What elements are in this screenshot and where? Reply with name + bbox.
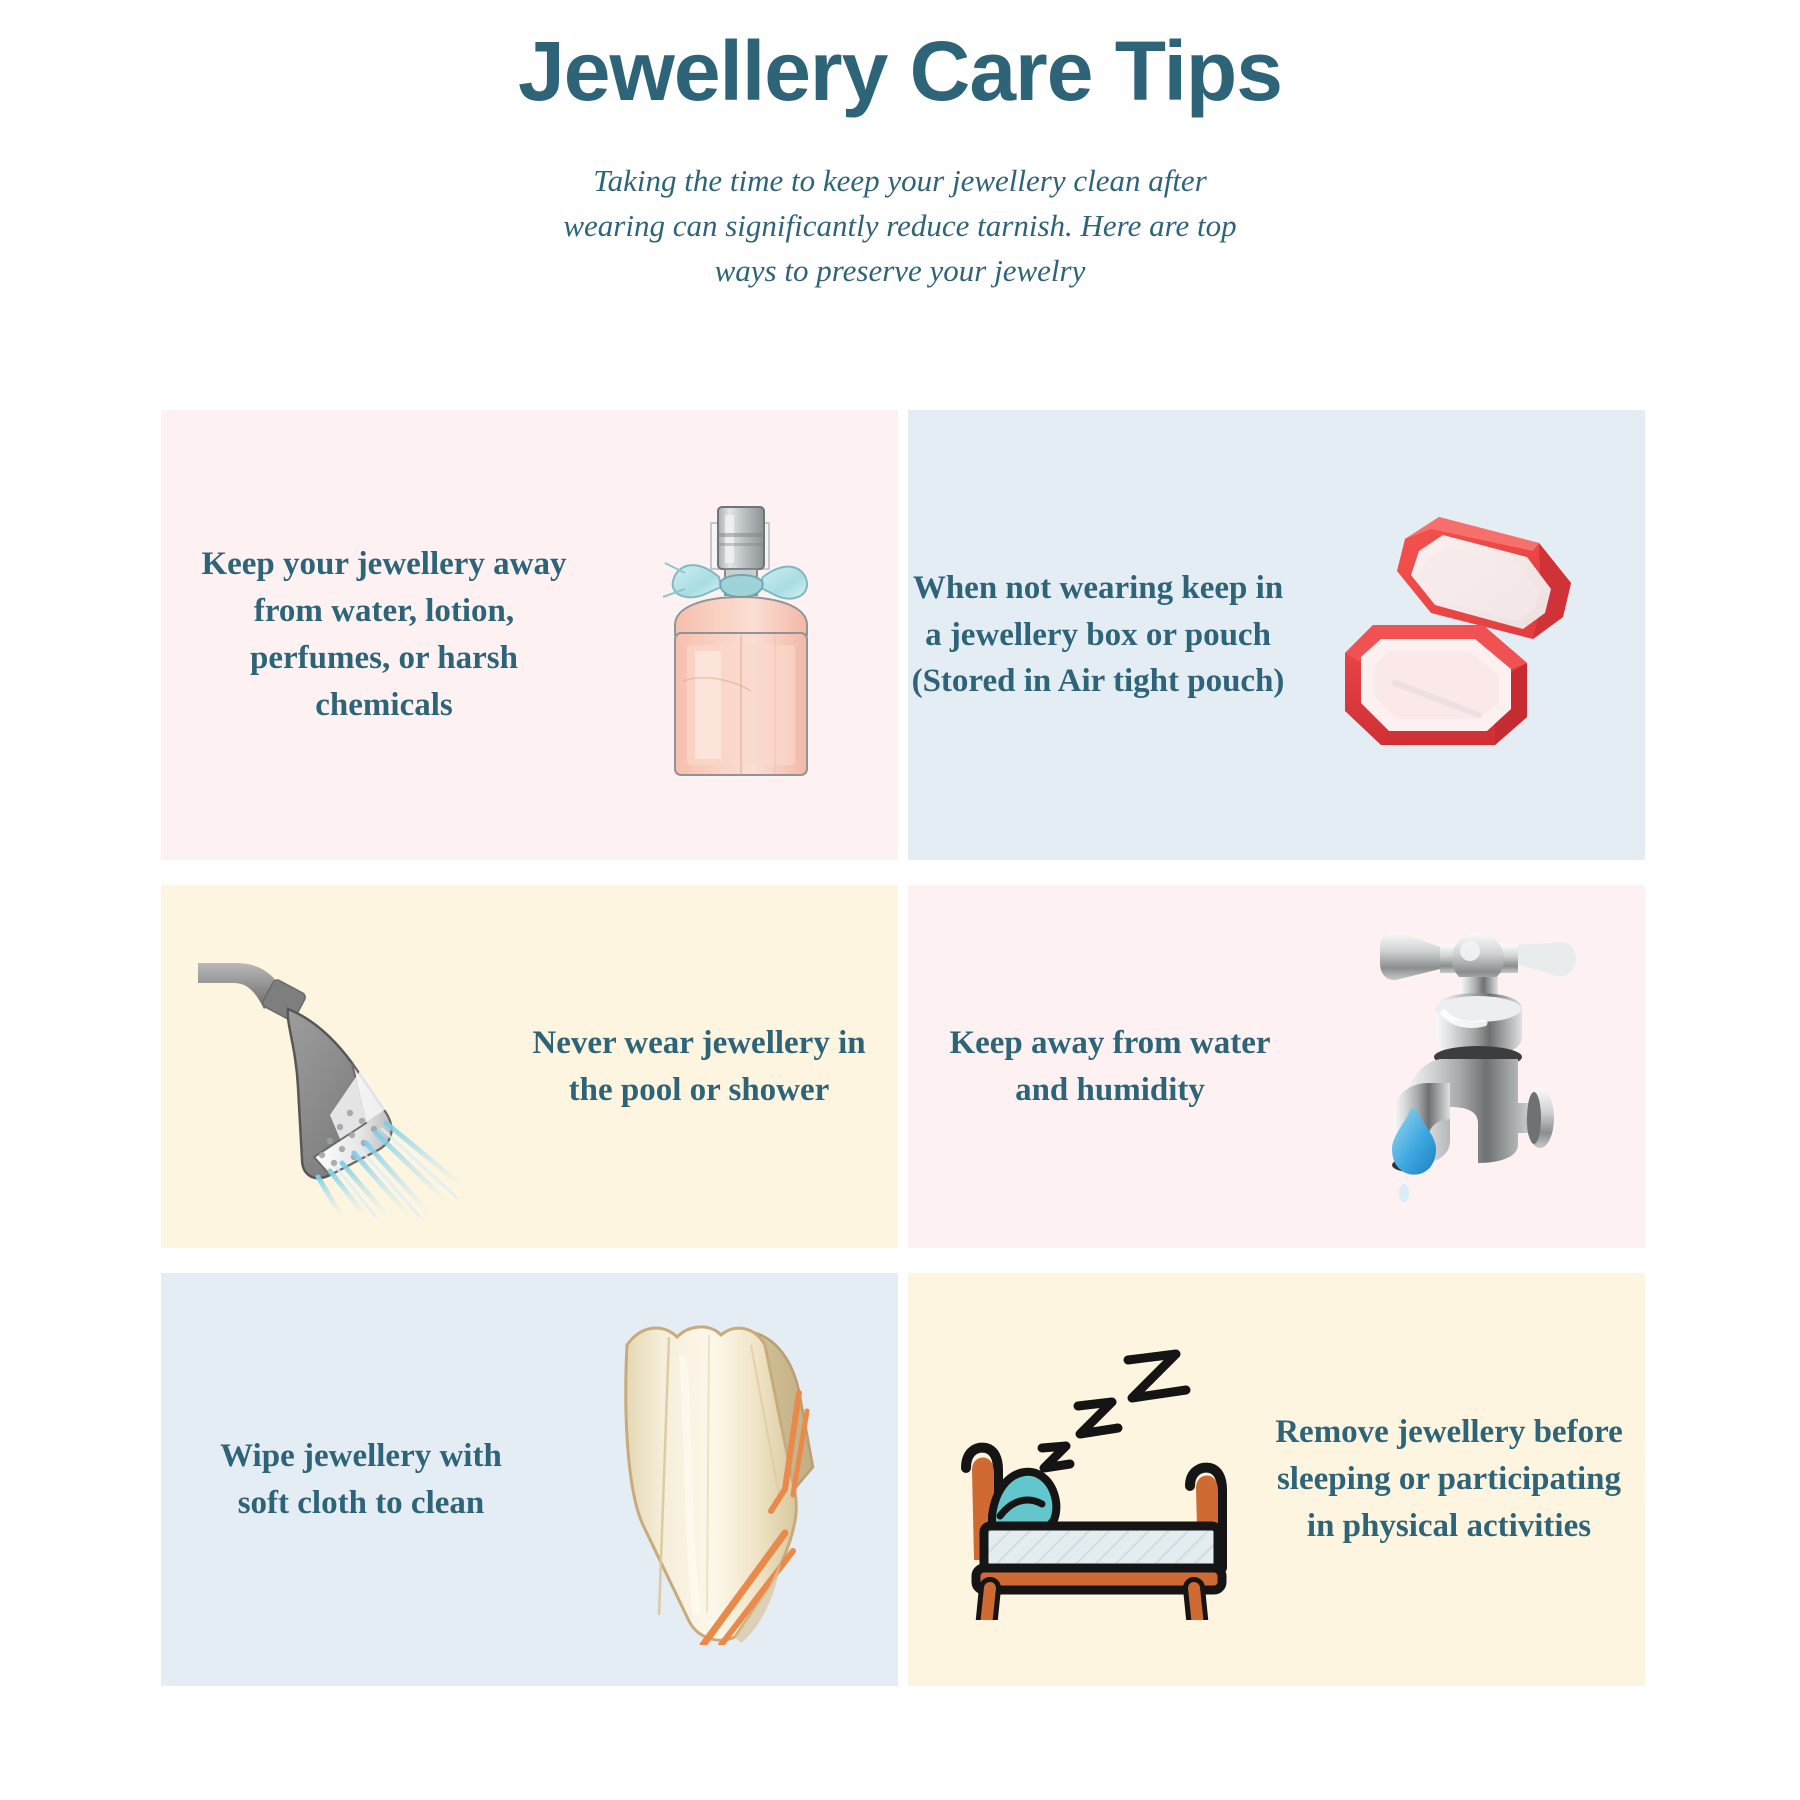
jewellery-box-icon — [1308, 410, 1645, 860]
tip-card-text: Keep away from water and humidity — [908, 1020, 1288, 1114]
page-title: Jewellery Care Tips — [0, 26, 1800, 117]
tip-card-wipe: Wipe jewellery with soft cloth to clean — [161, 1273, 898, 1686]
tip-card-text: Keep your jewellery away from water, lot… — [161, 541, 581, 728]
tip-card-storage: When not wearing keep in a jewellery box… — [908, 410, 1645, 860]
bed-sleeping-illustration — [942, 1340, 1242, 1620]
shower-head-illustration — [190, 917, 500, 1217]
jewellery-box-illustration — [1327, 505, 1627, 765]
perfume-bottle-illustration — [625, 485, 855, 785]
tip-card-humidity: Keep away from water and humidity — [908, 885, 1645, 1248]
faucet-icon — [1288, 885, 1645, 1248]
tip-card-sleep: Remove jewellery before sleeping or part… — [908, 1273, 1645, 1686]
soft-cloth-illustration — [585, 1315, 845, 1645]
tip-card-text: When not wearing keep in a jewellery box… — [908, 565, 1308, 706]
header: Jewellery Care Tips Taking the time to k… — [0, 0, 1800, 294]
bed-sleeping-icon — [908, 1273, 1275, 1686]
tip-card-text: Never wear jewellery in the pool or show… — [528, 1020, 898, 1114]
soft-cloth-icon — [531, 1273, 898, 1686]
tip-card-text: Wipe jewellery with soft cloth to clean — [161, 1433, 531, 1527]
tip-card-shower: Never wear jewellery in the pool or show… — [161, 885, 898, 1248]
faucet-illustration — [1332, 917, 1602, 1217]
page-subtitle: Taking the time to keep your jewellery c… — [550, 159, 1250, 294]
tip-card-text: Remove jewellery before sleeping or part… — [1275, 1409, 1645, 1550]
perfume-bottle-icon — [581, 410, 898, 860]
tip-card-chemicals: Keep your jewellery away from water, lot… — [161, 410, 898, 860]
shower-head-icon — [161, 885, 528, 1248]
infographic-page: Jewellery Care Tips Taking the time to k… — [0, 0, 1800, 1800]
tips-grid: Keep your jewellery away from water, lot… — [161, 410, 1638, 1686]
